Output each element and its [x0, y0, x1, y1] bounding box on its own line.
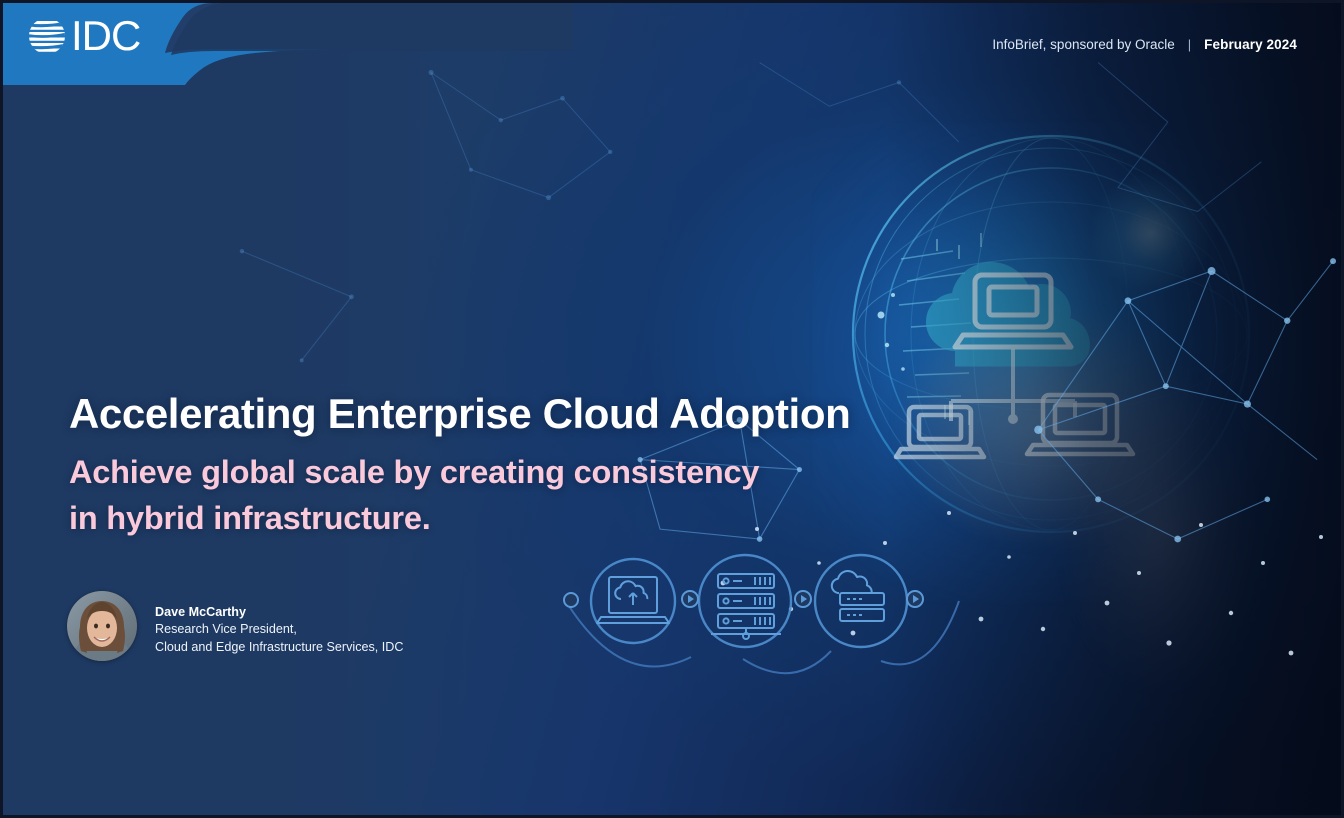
avatar	[67, 591, 137, 661]
subtitle-line-2: in hybrid infrastructure.	[69, 496, 759, 542]
sponsor-line: InfoBrief, sponsored by Oracle	[992, 37, 1174, 52]
infobrief-cover-page: IDC InfoBrief, sponsored by Oracle | Feb…	[0, 0, 1344, 818]
idc-globe-icon	[27, 16, 67, 56]
page-subtitle: Achieve global scale by creating consist…	[69, 450, 759, 542]
author-info: Dave McCarthy Research Vice President, C…	[155, 591, 404, 656]
subtitle-line-1: Achieve global scale by creating consist…	[69, 450, 759, 496]
author-role-line-2: Cloud and Edge Infrastructure Services, …	[155, 639, 404, 656]
page-title: Accelerating Enterprise Cloud Adoption	[69, 391, 850, 436]
header-separator: |	[1188, 37, 1191, 52]
header-meta: InfoBrief, sponsored by Oracle | Februar…	[992, 37, 1297, 52]
author-block: Dave McCarthy Research Vice President, C…	[67, 591, 404, 661]
background-right-vignette	[886, 3, 1341, 815]
author-name: Dave McCarthy	[155, 604, 404, 621]
author-role-line-1: Research Vice President,	[155, 621, 404, 638]
publication-date: February 2024	[1204, 37, 1297, 52]
idc-logo-text: IDC	[71, 15, 140, 57]
idc-logo: IDC	[27, 15, 140, 57]
